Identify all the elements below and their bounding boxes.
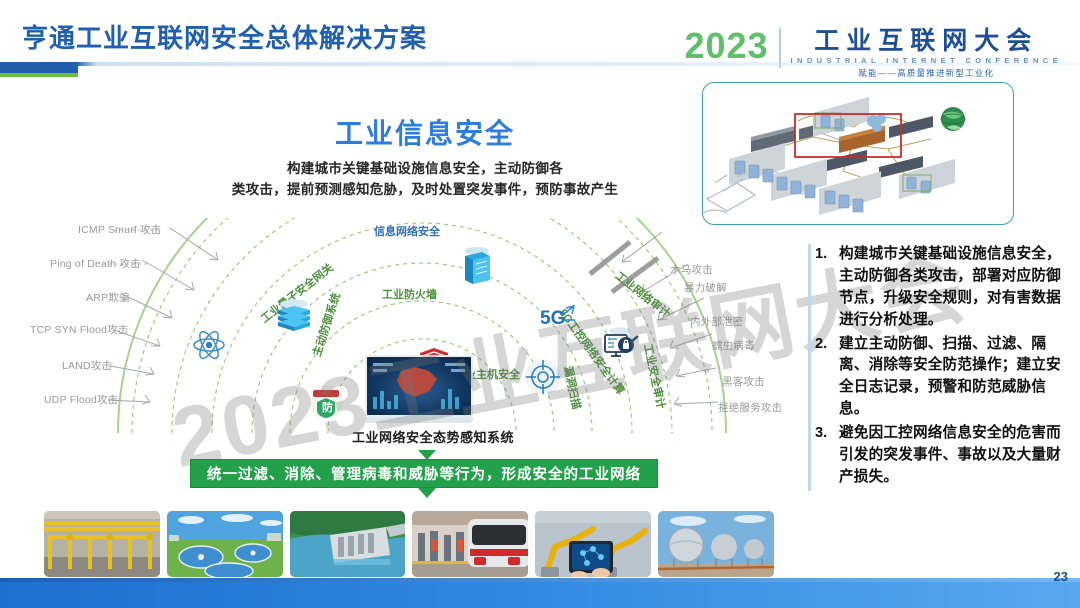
photo-robot-arms bbox=[535, 511, 651, 577]
attack-label-trojan: 木马攻击 bbox=[670, 262, 713, 277]
list-item-text: 避免因工控网络信息安全的危害而引发的突发事件、事故以及大量财产损失。 bbox=[839, 423, 1070, 489]
key-points-ol: 1. 构建城市关键基础设施信息安全，主动防御各类攻击，部署对应防御节点，升级安全… bbox=[815, 244, 1070, 489]
logo-chinese-name: 工业互联网大会 bbox=[814, 28, 1038, 54]
conference-logo: 2023 工业互联网大会 INDUSTRIAL INTERNET CONFERE… bbox=[684, 28, 1062, 79]
logo-text-group: 工业互联网大会 INDUSTRIAL INTERNET CONFERENCE 赋… bbox=[791, 28, 1062, 79]
header-accent-block bbox=[0, 62, 78, 73]
headline-block: 工业信息安全 构建城市关键基础设施信息安全，主动防御各类攻击，提前预测感知危胁，… bbox=[190, 112, 660, 201]
list-item: 1. 构建城市关键基础设施信息安全，主动防御各类攻击，部署对应防御节点，升级安全… bbox=[815, 244, 1070, 332]
list-item-number: 2. bbox=[815, 334, 839, 422]
photo-hydro-dam bbox=[290, 511, 406, 577]
arc-label-industrial-firewall: 工业防火墙 bbox=[382, 286, 437, 302]
attack-label-icmp-smurf: ICMP Smurf 攻击 bbox=[78, 222, 162, 237]
attack-label-dos: 拒绝服务攻击 bbox=[718, 400, 782, 415]
attack-label-udp-flood: UDP Flood攻击 bbox=[44, 392, 118, 407]
logo-divider bbox=[779, 28, 781, 68]
list-item-number: 3. bbox=[815, 423, 839, 489]
attack-label-tcp-syn-flood: TCP SYN Flood攻击 bbox=[30, 322, 129, 337]
arc-label-info-network-security: 信息网络安全 bbox=[374, 223, 440, 239]
attack-label-ping-of-death: Ping of Death 攻击 bbox=[50, 256, 141, 271]
list-item: 2. 建立主动防御、扫描、过滤、隔离、消除等安全防范操作；建立安全日志记录，预警… bbox=[815, 334, 1070, 422]
page-title: 亨通工业互联网安全总体解决方案 bbox=[22, 18, 427, 55]
photo-water-treatment bbox=[167, 511, 283, 577]
headline-subtitle: 构建城市关键基础设施信息安全，主动防御各类攻击，提前预测感知危胁，及时处置突发事… bbox=[190, 159, 660, 201]
attack-label-hacker: 黑客攻击 bbox=[722, 374, 765, 389]
summary-banner-text: 统一过滤、消除、管理病毒和威胁等行为，形成安全的工业网络 bbox=[207, 463, 641, 484]
monitor-screen bbox=[365, 355, 473, 417]
attack-label-worm-virus: 蠕虫病毒 bbox=[712, 338, 755, 353]
attack-label-land: LAND攻击 bbox=[62, 358, 112, 373]
headline-title: 工业信息安全 bbox=[190, 112, 660, 152]
attack-label-data-leak: 内外部泄密 bbox=[690, 314, 744, 329]
header-accent-green bbox=[0, 73, 78, 77]
photo-strip bbox=[44, 511, 774, 577]
network-topology-thumbnail bbox=[702, 82, 1014, 225]
key-points-list: 1. 构建城市关键基础设施信息安全，主动防御各类攻击，部署对应防御节点，升级安全… bbox=[808, 244, 1070, 491]
list-item: 3. 避免因工控网络信息安全的危害而引发的突发事件、事故以及大量财产损失。 bbox=[815, 423, 1070, 489]
list-item-text: 构建城市关键基础设施信息安全，主动防御各类攻击，部署对应防御节点，升级安全规则，… bbox=[839, 244, 1070, 332]
diagram-caption: 工业网络安全态势感知系统 bbox=[352, 427, 514, 446]
footer-bar bbox=[0, 582, 1080, 608]
attack-label-brute-force: 暴力破解 bbox=[684, 280, 727, 295]
slide: 亨通工业互联网安全总体解决方案 2023 工业互联网大会 INDUSTRIAL … bbox=[0, 0, 1080, 608]
photo-gas-tanks bbox=[658, 511, 774, 577]
list-item-text: 建立主动防御、扫描、过滤、隔离、消除等安全防范操作；建立安全日志记录，预警和防范… bbox=[839, 334, 1070, 422]
photo-gas-pipeline bbox=[44, 511, 160, 577]
svg-text:5G: 5G bbox=[540, 308, 565, 329]
attack-label-arp-spoof: ARP欺骗 bbox=[86, 290, 130, 305]
photo-metro-station bbox=[412, 511, 528, 577]
banner-arrow-bottom bbox=[418, 488, 436, 498]
page-number: 23 bbox=[1054, 569, 1068, 584]
logo-english-name: INDUSTRIAL INTERNET CONFERENCE bbox=[791, 56, 1062, 65]
logo-tagline: 赋能——高质量推进新型工业化 bbox=[858, 67, 994, 79]
list-item-number: 1. bbox=[815, 244, 839, 332]
situational-awareness-monitor bbox=[365, 355, 473, 427]
svg-text:防: 防 bbox=[322, 400, 333, 414]
logo-year: 2023 bbox=[684, 28, 768, 64]
summary-banner: 统一过滤、消除、管理病毒和威胁等行为，形成安全的工业网络 bbox=[190, 459, 658, 488]
